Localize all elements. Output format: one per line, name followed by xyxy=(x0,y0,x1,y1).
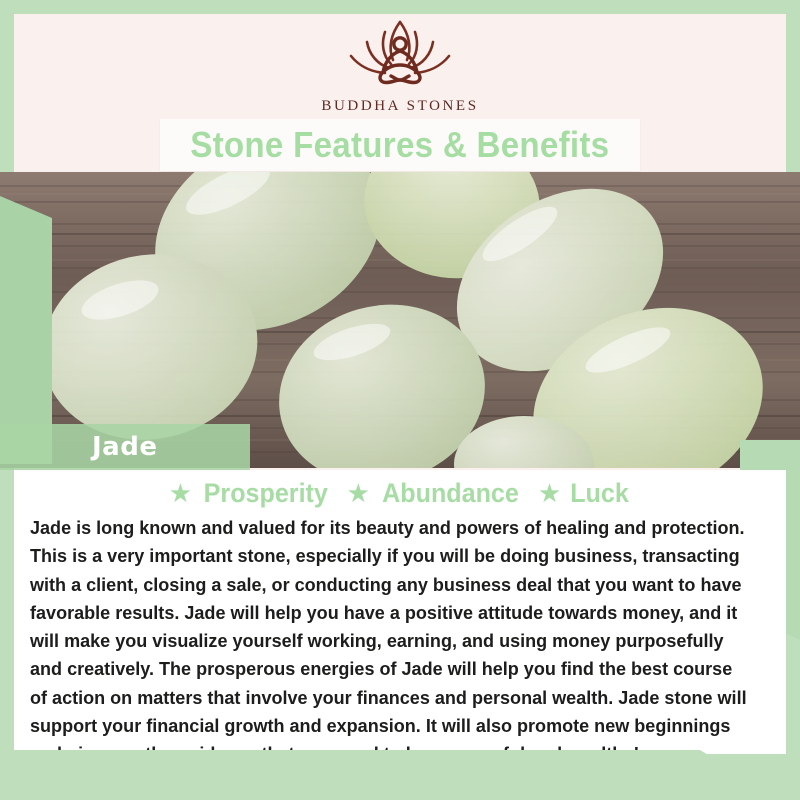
keyword-item: ★ Luck xyxy=(538,478,631,509)
content-panel: ★ Prosperity ★ Abundance ★ Luck Jade is … xyxy=(14,470,786,754)
frame-border-top xyxy=(0,0,800,14)
keyword-list: ★ Prosperity ★ Abundance ★ Luck xyxy=(14,470,786,510)
star-icon: ★ xyxy=(169,480,192,506)
star-icon: ★ xyxy=(538,480,561,506)
keyword-item: ★ Abundance xyxy=(347,478,524,509)
lotus-meditation-icon xyxy=(325,18,475,96)
bottom-accent-band xyxy=(0,750,800,800)
brand-logo: BUDDHA STONES xyxy=(0,18,800,115)
brand-name: BUDDHA STONES xyxy=(0,98,800,115)
keyword-item: ★ Prosperity xyxy=(169,478,333,509)
stone-name-band: Jade xyxy=(0,424,250,470)
keyword-label: Abundance xyxy=(382,478,519,509)
stone-info-card: BUDDHA STONES Stone Features & Benefits xyxy=(0,0,800,800)
stone-name: Jade xyxy=(92,432,157,462)
keyword-label: Prosperity xyxy=(204,478,328,509)
keyword-label: Luck xyxy=(570,478,629,509)
stone-description: Jade is long known and valued for its be… xyxy=(30,514,752,768)
star-icon: ★ xyxy=(347,480,370,506)
title-banner: Stone Features & Benefits xyxy=(160,119,640,171)
page-title: Stone Features & Benefits xyxy=(190,124,609,166)
